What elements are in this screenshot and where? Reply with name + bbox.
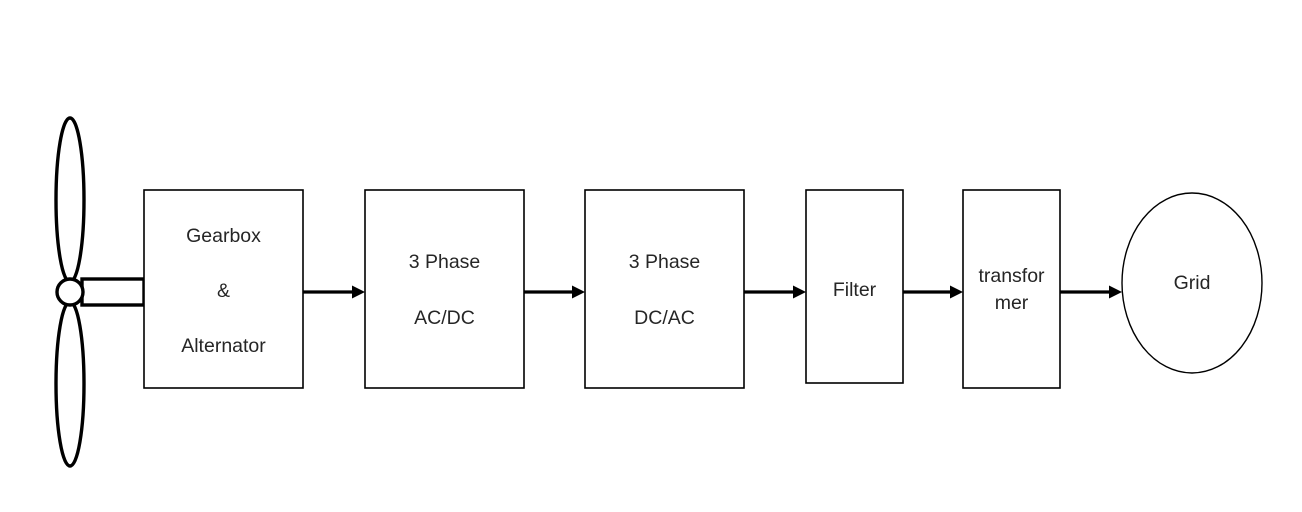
transformer-box[interactable] [963,190,1060,388]
node-dc-ac-inverter[interactable]: 3 Phase DC/AC [585,190,744,388]
turbine-blade-upper-icon [56,118,84,282]
node-ac-dc-converter[interactable]: 3 Phase AC/DC [365,190,524,388]
ac-dc-converter-label-line-2: AC/DC [414,307,475,329]
dc-ac-inverter-box[interactable] [585,190,744,388]
arrow-head [352,286,365,299]
connector-filter-to-transformer [903,286,963,299]
dc-ac-inverter-label-line-2: DC/AC [634,307,695,329]
arrow-head [950,286,963,299]
connector-dcac-to-filter [744,286,806,299]
arrow-head [572,286,585,299]
ac-dc-converter-box[interactable] [365,190,524,388]
grid-label: Grid [1174,272,1211,294]
diagram-canvas: Gearbox & Alternator 3 Phase AC/DC 3 Pha… [0,0,1302,512]
node-grid[interactable]: Grid [1122,193,1262,373]
node-gearbox-alternator[interactable]: Gearbox & Alternator [144,190,303,388]
node-filter[interactable]: Filter [806,190,903,383]
ac-dc-converter-label-line-1: 3 Phase [409,251,481,273]
gearbox-alternator-label-line-2: & [217,280,230,302]
wind-turbine[interactable] [56,118,144,466]
arrow-head [1109,286,1122,299]
filter-label: Filter [833,279,877,301]
turbine-hub-icon [57,279,83,305]
arrow-head [793,286,806,299]
gearbox-alternator-label-line-3: Alternator [181,335,266,357]
transformer-label-line-2: mer [995,292,1029,314]
turbine-blade-lower-icon [56,302,84,466]
gearbox-alternator-label-line-1: Gearbox [186,225,261,247]
turbine-shaft [82,279,144,305]
connector-gearbox-to-acdc [303,286,365,299]
node-transformer[interactable]: transfor mer [963,190,1060,388]
connector-acdc-to-dcac [524,286,585,299]
dc-ac-inverter-label-line-1: 3 Phase [629,251,701,273]
transformer-label-line-1: transfor [978,265,1045,287]
block-diagram: Gearbox & Alternator 3 Phase AC/DC 3 Pha… [0,0,1302,512]
connector-transformer-to-grid [1060,286,1122,299]
